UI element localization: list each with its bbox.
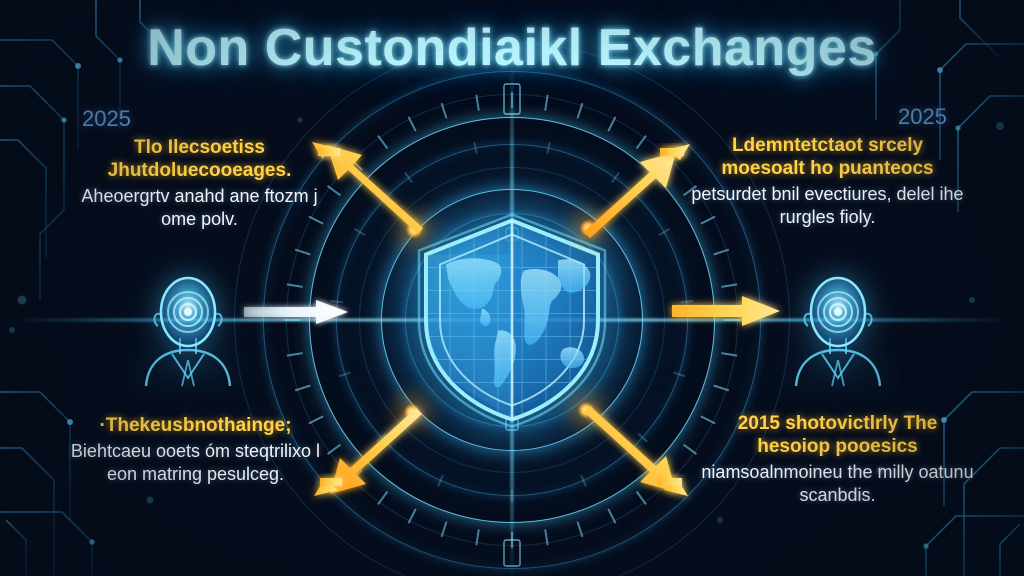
callout-bottom-left: ·Thekeusbnothainge; Biehtcaeu ooets óm s… xyxy=(58,414,333,485)
arrow-shaft-top-right xyxy=(660,148,684,156)
heading-top-left: Tlo Ilecsoetiss Jhutdoluecooeages. xyxy=(62,136,337,182)
arrow-diagonal-bottom-left xyxy=(330,408,422,494)
body-bottom-left: Biehtcaeu ooets óm steqtrilixo l eon mat… xyxy=(58,440,333,485)
arrow-shaft-bottom-right xyxy=(658,478,682,486)
glow-node-bottom-left xyxy=(404,404,420,420)
callout-top-right: 2025 Ldemntetctaot srcely moesoalt ho pu… xyxy=(690,104,965,228)
user-avatar-icon-left xyxy=(128,268,248,388)
user-avatar-icon-right xyxy=(778,268,898,388)
body-top-left: Aheoergrtv anahd ane ftozm j ome polv. xyxy=(62,185,337,230)
body-top-right: petsurdet bnil evectiures, delel ihe rur… xyxy=(690,183,965,228)
glow-node-bottom-right xyxy=(578,402,594,418)
glow-node-top-left xyxy=(406,222,422,238)
heading-bottom-right: 2015 shotovictlrly The hesoiop pooesics xyxy=(700,412,975,458)
arrowhead-outer-top-right xyxy=(666,144,690,160)
page-title: Non Custondiaikl Exchanges xyxy=(0,18,1024,78)
arrow-right-gold xyxy=(672,296,780,326)
shield-world-map-icon xyxy=(412,213,612,428)
glow-node-top-right xyxy=(580,220,596,236)
year-label-top-right: 2025 xyxy=(690,104,965,130)
arrow-right-white xyxy=(244,300,348,324)
heading-bottom-left: ·Thekeusbnothainge; xyxy=(58,414,333,437)
callout-bottom-right: 2015 shotovictlrly The hesoiop pooesics … xyxy=(700,412,975,506)
heading-top-right: Ldemntetctaot srcely moesoalt ho puanteo… xyxy=(690,134,965,180)
body-bottom-right: niamsoalnmoineu the milly oatunu scanbdi… xyxy=(700,461,975,506)
arrow-diagonal-top-left xyxy=(327,145,423,234)
callout-top-left: 2025 Tlo Ilecsoetiss Jhutdoluecooeages. … xyxy=(62,106,337,230)
year-label-top-left: 2025 xyxy=(62,106,337,132)
arrowhead-outer-bottom-right xyxy=(664,480,688,496)
infographic-canvas: Non Custondiaikl Exchanges 2025 Tlo Ilec… xyxy=(0,0,1024,576)
